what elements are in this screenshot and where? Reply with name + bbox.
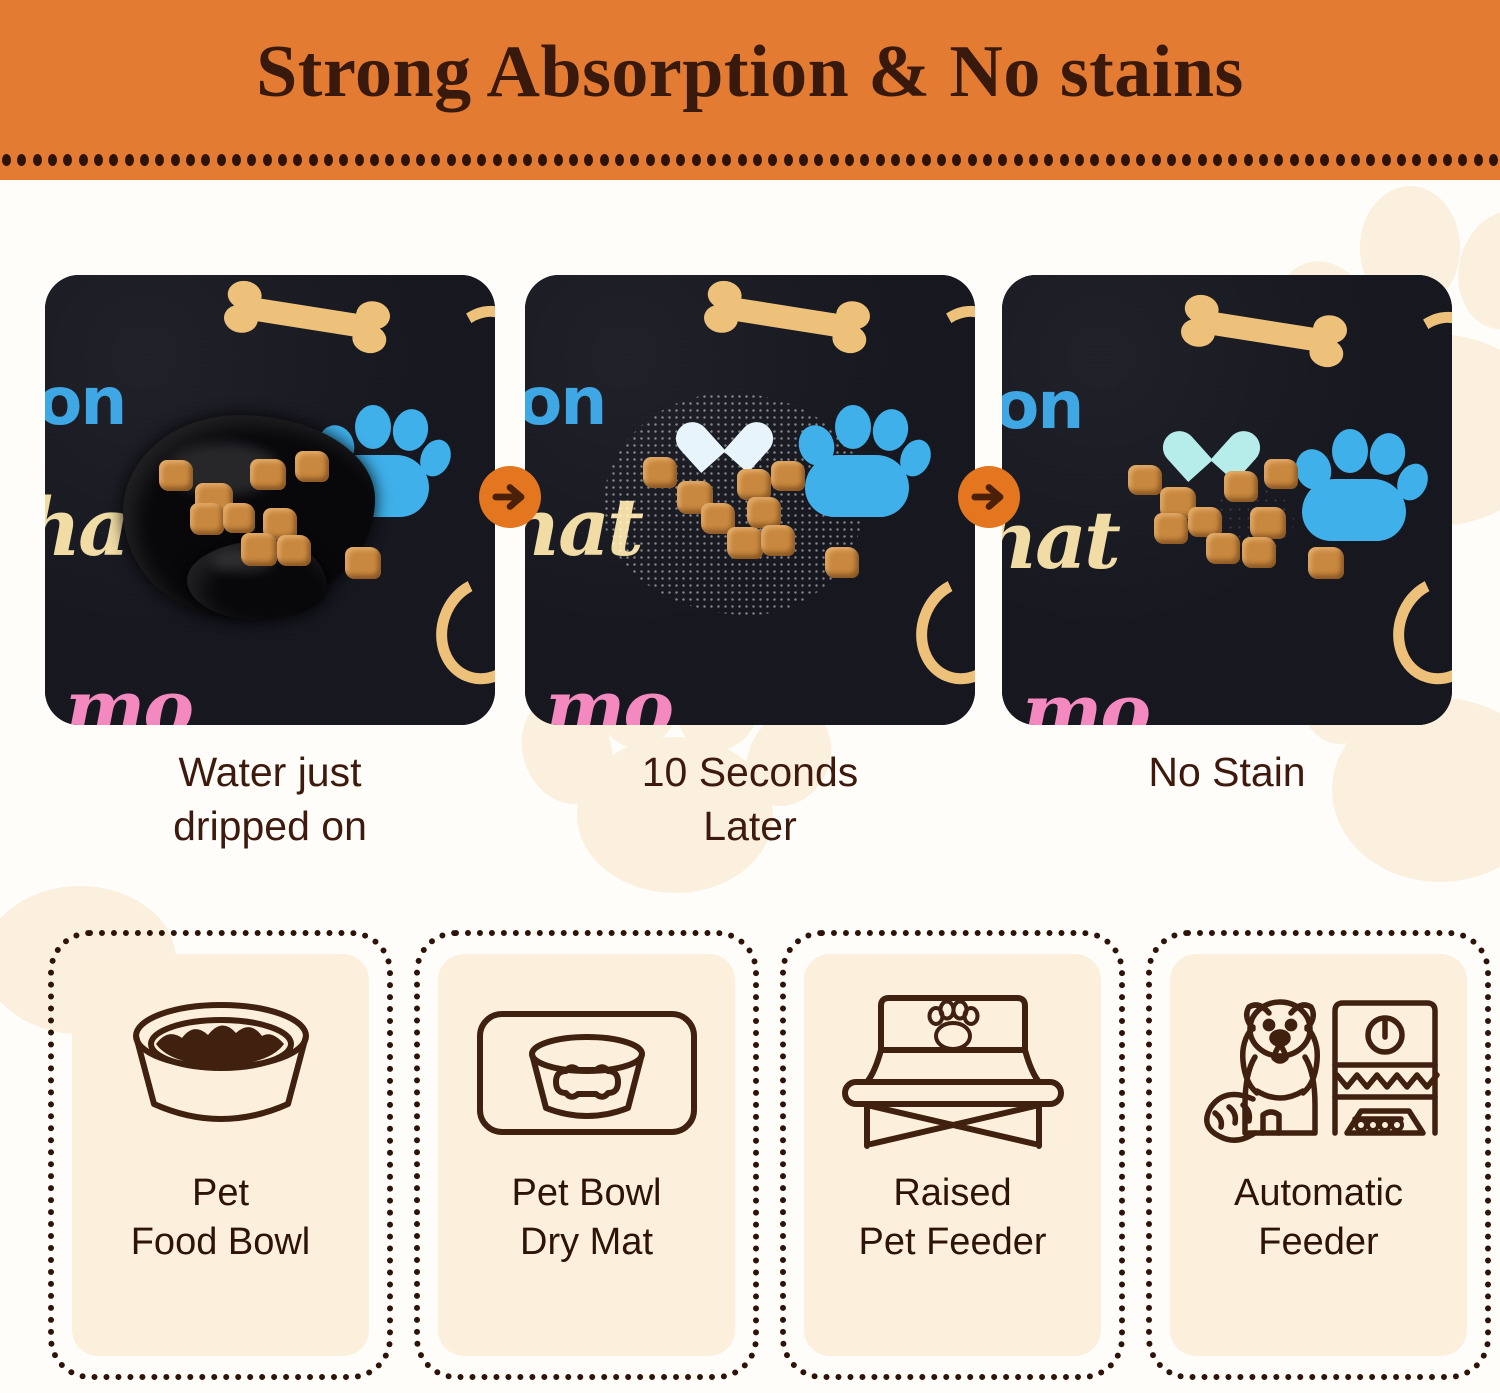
card-automatic-feeder[interactable]: Automatic Feeder xyxy=(1146,930,1491,1380)
kibble xyxy=(1206,533,1240,564)
mat-word-on: on xyxy=(525,363,605,440)
kibble xyxy=(277,535,311,566)
kibble xyxy=(241,533,277,566)
header-banner: Strong Absorption & No stains xyxy=(0,0,1500,180)
arrow-right-icon xyxy=(479,466,541,528)
kibble xyxy=(1224,471,1258,502)
mat-paw-graphic xyxy=(793,403,925,523)
kibble xyxy=(295,451,329,482)
kibble xyxy=(345,547,381,579)
card-label: Pet Food Bowl xyxy=(125,1169,317,1268)
card-label: Automatic Feeder xyxy=(1228,1169,1409,1268)
kibble xyxy=(761,525,795,556)
demo-caption-step-3: No Stain xyxy=(1002,745,1452,799)
mat-word-on: on xyxy=(45,363,125,440)
absorption-demo-strip: on hat mo xyxy=(0,180,1500,920)
demo-caption-step-1: Water just dripped on xyxy=(45,745,495,853)
kibble xyxy=(737,469,771,500)
mat-heart-graphic xyxy=(1184,423,1240,475)
card-inner: Pet Food Bowl xyxy=(72,954,369,1356)
mat-word-mo: mo xyxy=(545,663,672,725)
kibble xyxy=(643,457,677,488)
mat-word-mo: mo xyxy=(65,663,192,725)
pet-bowl-dry-mat-icon xyxy=(438,954,735,1169)
raised-pet-feeder-icon xyxy=(804,954,1101,1169)
kibble xyxy=(1242,537,1276,568)
mat-word-mo: mo xyxy=(1022,667,1149,725)
card-raised-pet-feeder[interactable]: Raised Pet Feeder xyxy=(780,930,1125,1380)
kibble xyxy=(771,461,805,491)
demo-photo-step-1: on hat mo xyxy=(45,275,495,725)
mat-heart-graphic xyxy=(697,414,753,466)
kibble xyxy=(1250,507,1286,539)
kibble xyxy=(825,547,859,578)
card-inner: Pet Bowl Dry Mat xyxy=(438,954,735,1356)
kibble xyxy=(1154,513,1188,544)
card-inner: Automatic Feeder xyxy=(1170,954,1467,1356)
kibble xyxy=(727,527,763,559)
card-pet-food-bowl[interactable]: Pet Food Bowl xyxy=(48,930,393,1380)
infographic-page: Strong Absorption & No stains on hat mo xyxy=(0,0,1500,1393)
mat-word-on: on xyxy=(1002,367,1082,444)
kibble xyxy=(223,503,255,533)
arrow-right-icon xyxy=(958,466,1020,528)
automatic-feeder-icon xyxy=(1170,954,1467,1169)
demo-photo-step-3: on hat mo xyxy=(1002,275,1452,725)
page-title: Strong Absorption & No stains xyxy=(0,30,1500,115)
pet-food-bowl-icon xyxy=(72,954,369,1169)
kibble xyxy=(747,497,781,528)
mat-word-hat: hat xyxy=(1002,493,1118,587)
kibble xyxy=(1308,547,1344,579)
banner-dotted-divider xyxy=(0,150,1500,170)
kibble xyxy=(190,503,224,535)
card-label: Raised Pet Feeder xyxy=(853,1169,1053,1268)
kibble xyxy=(250,459,286,490)
kibble xyxy=(1264,459,1298,489)
card-label: Pet Bowl Dry Mat xyxy=(506,1169,668,1268)
demo-photo-step-2: on hat mo xyxy=(525,275,975,725)
use-case-cards: Pet Food Bowl Pet Bowl Dry Mat xyxy=(0,920,1500,1393)
kibble xyxy=(159,460,193,491)
demo-caption-step-2: 10 Seconds Later xyxy=(525,745,975,853)
card-inner: Raised Pet Feeder xyxy=(804,954,1101,1356)
kibble xyxy=(1128,465,1162,495)
mat-paw-graphic xyxy=(1290,427,1422,547)
card-pet-bowl-dry-mat[interactable]: Pet Bowl Dry Mat xyxy=(414,930,759,1380)
